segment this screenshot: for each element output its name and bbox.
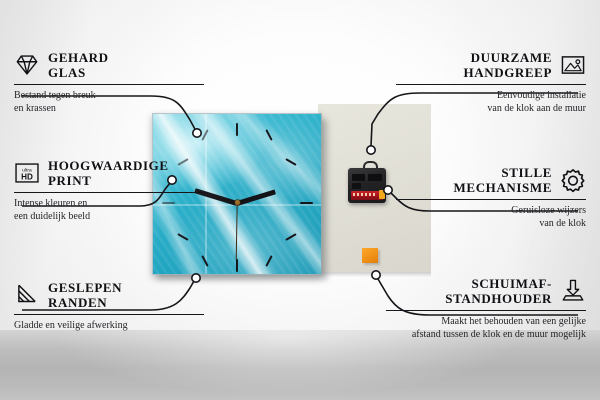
connector-endpoint-gehard-glas xyxy=(193,129,201,137)
feature-desc-line1: Bestand tegen breuk xyxy=(14,90,204,103)
feature-divider xyxy=(14,314,204,315)
feature-title-line2: GLAS xyxy=(48,65,109,80)
feature-title-line2: PRINT xyxy=(48,173,169,188)
feature-title-wrap: STILLE MECHANISME xyxy=(454,165,552,195)
stamp-down-arrow-icon xyxy=(560,278,586,304)
feature-header: DUURZAME HANDGREEP xyxy=(396,50,586,80)
feature-desc-line2: een duidelijk beeld xyxy=(14,211,204,224)
feature-hoogwaardige-print: ultra HD HOOGWAARDIGE PRINT Intense kleu… xyxy=(14,158,204,223)
feature-desc-line1: Intense kleuren en xyxy=(14,198,204,211)
feature-duurzame-handgreep: DUURZAME HANDGREEP Eenvoudige installati… xyxy=(396,50,586,115)
ultra-hd-icon: ultra HD xyxy=(14,160,40,186)
feature-desc-line1: Eenvoudige installatie xyxy=(396,90,586,103)
feature-divider xyxy=(396,199,586,200)
feature-title-line2: STANDHOUDER xyxy=(445,291,552,306)
feature-title-wrap: GEHARD GLAS xyxy=(48,50,109,80)
feature-divider xyxy=(14,84,204,85)
feature-title-line2: RANDEN xyxy=(48,295,122,310)
feature-header: ultra HD HOOGWAARDIGE PRINT xyxy=(14,158,204,188)
feature-title-line1: GESLEPEN xyxy=(48,280,122,295)
connector-endpoint-handgreep xyxy=(367,146,375,154)
feature-desc-line1: Gladde en veilige afwerking xyxy=(14,320,204,333)
feature-header: SCHUIMAF- STANDHOUDER xyxy=(386,276,586,306)
diamond-icon xyxy=(14,52,40,78)
feature-title-line1: SCHUIMAF- xyxy=(445,276,552,291)
connector-endpoint-mechanisme xyxy=(384,186,392,194)
connector-endpoint-houder xyxy=(372,271,380,279)
feature-title-line1: DUURZAME xyxy=(464,50,552,65)
feature-header: STILLE MECHANISME xyxy=(396,165,586,195)
svg-text:HD: HD xyxy=(21,173,33,182)
feature-title-line2: MECHANISME xyxy=(454,180,552,195)
feature-schuimafstandhouder: SCHUIMAF- STANDHOUDER Maakt het behouden… xyxy=(386,276,586,341)
feature-header: GEHARD GLAS xyxy=(14,50,204,80)
feature-title-line1: GEHARD xyxy=(48,50,109,65)
feature-geslepen-randen: GESLEPEN RANDEN Gladde en veilige afwerk… xyxy=(14,280,204,333)
feature-desc-line1: Maakt het behouden van een gelijke xyxy=(386,316,586,329)
infographic-canvas: GEHARD GLAS Bestand tegen breuk en krass… xyxy=(0,0,600,400)
gear-icon xyxy=(560,167,586,193)
feature-title-line1: HOOGWAARDIGE xyxy=(48,158,169,173)
picture-frame-icon xyxy=(560,52,586,78)
feature-title-wrap: SCHUIMAF- STANDHOUDER xyxy=(445,276,552,306)
feature-title-wrap: GESLEPEN RANDEN xyxy=(48,280,122,310)
feature-header: GESLEPEN RANDEN xyxy=(14,280,204,310)
feature-desc-line2: van de klok xyxy=(396,218,586,231)
feature-desc-line2: van de klok aan de muur xyxy=(396,103,586,116)
feature-divider xyxy=(386,310,586,311)
feature-title-line2: HANDGREEP xyxy=(464,65,552,80)
feature-title-wrap: HOOGWAARDIGE PRINT xyxy=(48,158,169,188)
feature-gehard-glas: GEHARD GLAS Bestand tegen breuk en krass… xyxy=(14,50,204,115)
feature-divider xyxy=(396,84,586,85)
feature-divider xyxy=(14,192,204,193)
feature-desc-line2: afstand tussen de klok en de muur mogeli… xyxy=(386,329,586,342)
feature-title-line1: STILLE xyxy=(454,165,552,180)
feature-desc-line1: Geruisloze wijzers xyxy=(396,205,586,218)
bevelled-edges-icon xyxy=(14,282,40,308)
feature-stille-mechanisme: STILLE MECHANISME Geruisloze wijzers van… xyxy=(396,165,586,230)
feature-title-wrap: DUURZAME HANDGREEP xyxy=(464,50,552,80)
feature-desc-line2: en krassen xyxy=(14,103,204,116)
